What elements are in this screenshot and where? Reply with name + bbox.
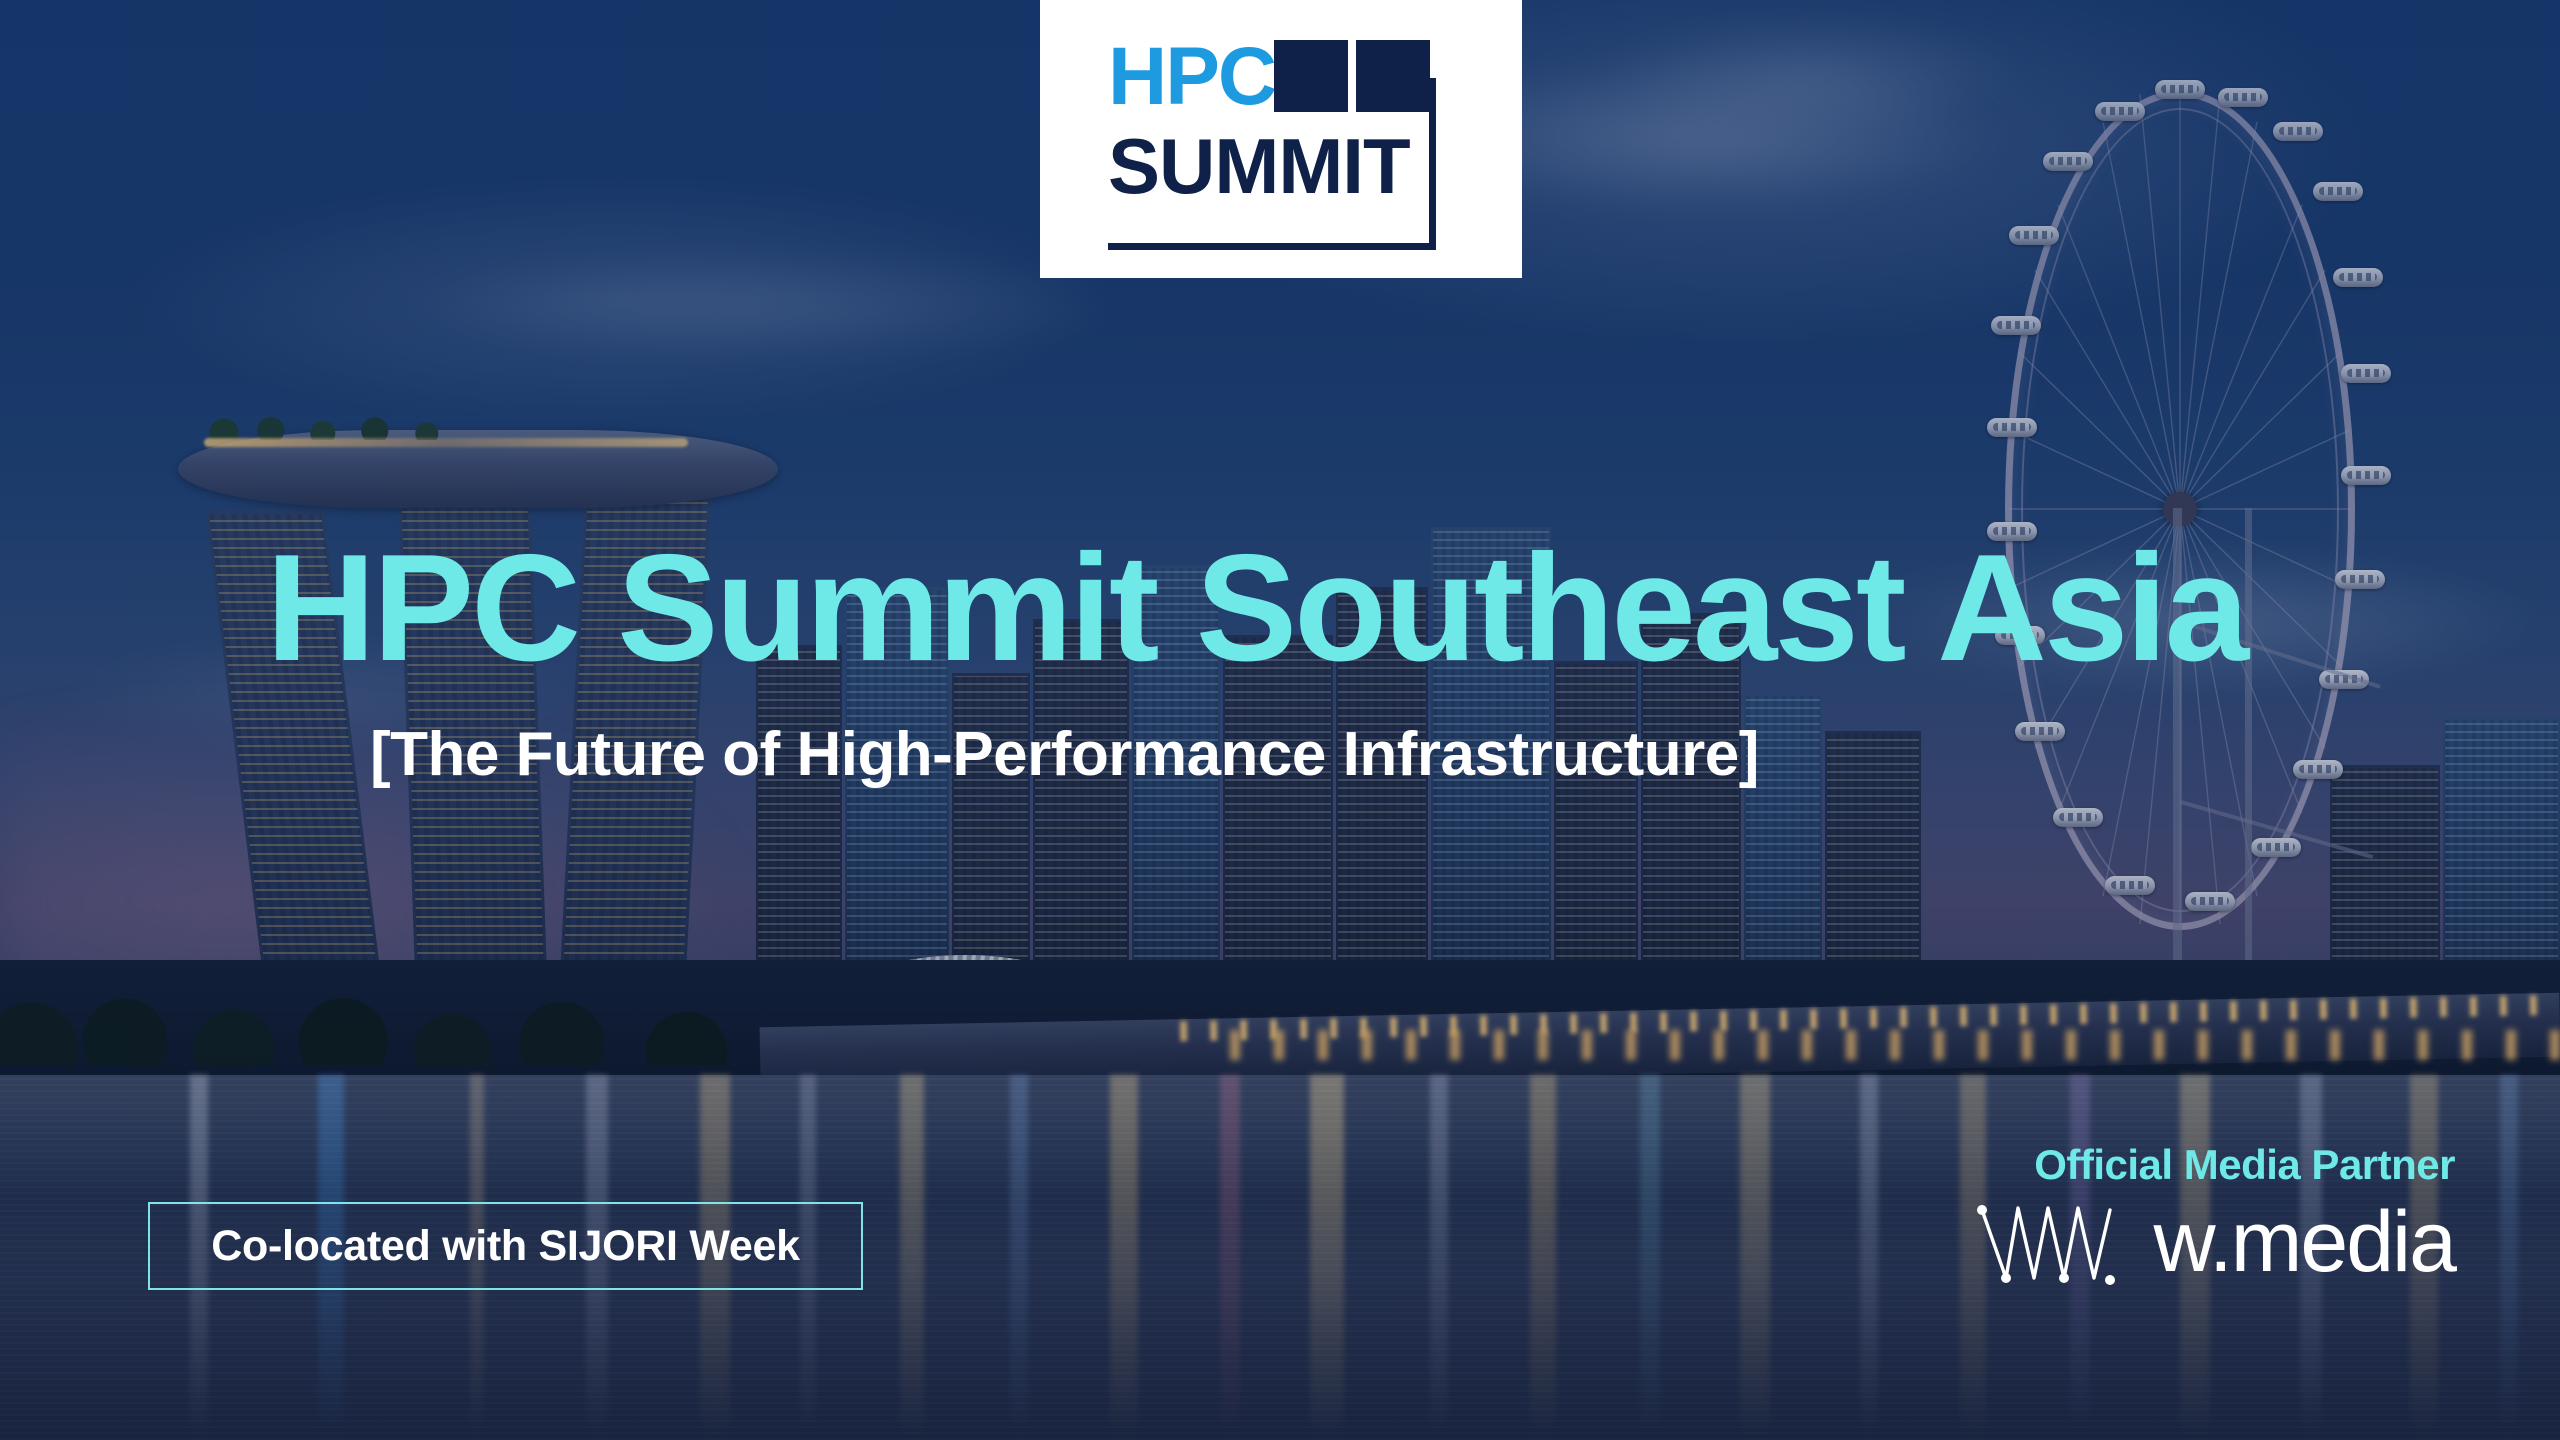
logo-hpc-text: HPC bbox=[1108, 34, 1275, 120]
logo-underline bbox=[1108, 243, 1434, 250]
colocated-badge-label: Co-located with SIJORI Week bbox=[211, 1222, 799, 1271]
media-partner-label: Official Media Partner bbox=[1972, 1140, 2456, 1190]
logo-block-2 bbox=[1356, 40, 1430, 112]
page-title: HPC Summit Southeast Asia bbox=[266, 533, 2346, 683]
wmedia-wordmark: w.media bbox=[2154, 1196, 2456, 1288]
page-subtitle: [The Future of High-Performance Infrastr… bbox=[370, 718, 2270, 792]
media-partner-block: Official Media Partner w.media bbox=[1972, 1140, 2456, 1288]
logo-summit-text: SUMMIT bbox=[1108, 126, 1410, 206]
hpc-summit-logo-card: HPC SUMMIT bbox=[1040, 0, 1522, 278]
event-banner: HPC SUMMIT HPC Summit Southeast Asia [Th… bbox=[0, 0, 2560, 1440]
logo-block-1 bbox=[1274, 40, 1348, 112]
zigzag-wave-mark-icon bbox=[1972, 1196, 2132, 1288]
colocated-badge: Co-located with SIJORI Week bbox=[148, 1202, 863, 1290]
wmedia-logo: w.media bbox=[1972, 1196, 2456, 1288]
